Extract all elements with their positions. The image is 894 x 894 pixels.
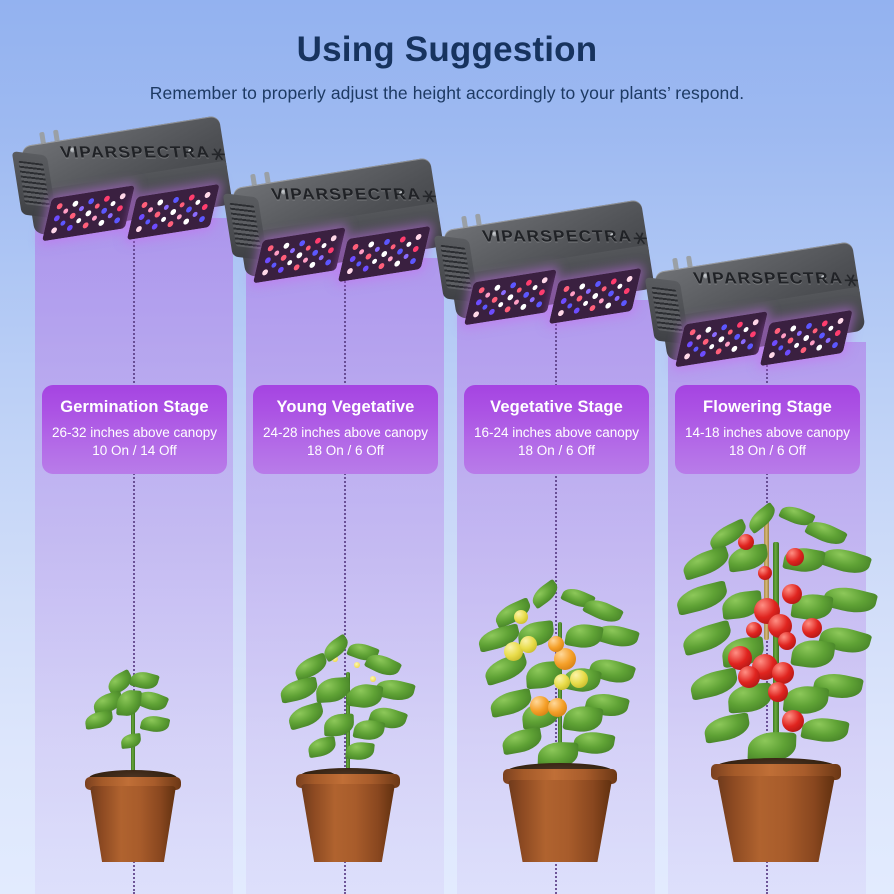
leaf (790, 637, 835, 671)
stage-title: Young Vegetative (259, 398, 432, 417)
page-subtitle: Remember to properly adjust the height a… (0, 83, 894, 104)
vent-grille-icon (440, 245, 472, 292)
leaf (140, 713, 171, 734)
leaf (346, 682, 383, 710)
fruit-tomato (514, 610, 528, 624)
plant-pot (90, 786, 176, 862)
stage-card-vegetative[interactable]: Vegetative Stage 16-24 inches above cano… (464, 385, 649, 474)
stage-cycle: 18 On / 6 Off (681, 442, 854, 460)
flower-blossom-icon (354, 662, 360, 668)
vent-grille-icon (651, 287, 683, 334)
leaf (352, 718, 385, 743)
leaf (307, 736, 338, 759)
brand-logo-icon (422, 190, 437, 203)
stage-height: 26-32 inches above canopy (48, 424, 221, 442)
fruit-tomato (548, 698, 567, 717)
fruit-tomato (554, 674, 570, 690)
infographic-canvas: Using Suggestion Remember to properly ad… (0, 0, 894, 894)
fruit-tomato (548, 636, 564, 652)
led-fixture-flowering[interactable]: VIPARSPECTRA (655, 254, 870, 362)
led-fixture-germination[interactable]: VIPARSPECTRA (22, 128, 237, 236)
fruit-tomato (772, 662, 794, 684)
fruit-tomato (782, 710, 804, 732)
fruit-tomato (778, 632, 796, 650)
plant-foliage (470, 586, 650, 772)
leaf (278, 676, 319, 703)
brand-label: VIPARSPECTRA (270, 185, 422, 204)
leaf (286, 701, 326, 730)
brand-logo-icon (211, 148, 226, 161)
plant-flowering (676, 506, 876, 862)
plant-foliage (676, 506, 876, 768)
brand-label: VIPARSPECTRA (59, 143, 211, 162)
fruit-tomato (782, 584, 802, 604)
stage-card-germination[interactable]: Germination Stage 26-32 inches above can… (42, 385, 227, 474)
brand-logo-icon (633, 232, 648, 245)
brand-label: VIPARSPECTRA (692, 269, 844, 288)
leaf (84, 710, 114, 730)
fruit-tomato (786, 548, 804, 566)
leaf (702, 712, 751, 744)
led-fixture-young-vegetative[interactable]: VIPARSPECTRA (233, 170, 448, 278)
fruit-tomato (738, 534, 754, 550)
leaf (572, 729, 615, 758)
brand-label: VIPARSPECTRA (481, 227, 633, 246)
stage-title: Germination Stage (48, 398, 221, 417)
leaf (129, 669, 160, 693)
stage-height: 16-24 inches above canopy (470, 424, 643, 442)
leaf (680, 545, 732, 581)
page-title: Using Suggestion (0, 30, 894, 70)
fruit-tomato (570, 670, 588, 688)
fruit-tomato (746, 622, 762, 638)
stage-card-flowering[interactable]: Flowering Stage 14-18 inches above canop… (675, 385, 860, 474)
brand-logo-icon (844, 274, 859, 287)
vent-grille-icon (18, 161, 50, 208)
leaf (564, 621, 604, 651)
stage-card-young-vegetative[interactable]: Young Vegetative 24-28 inches above cano… (253, 385, 438, 474)
stage-title: Vegetative Stage (470, 398, 643, 417)
stage-height: 24-28 inches above canopy (259, 424, 432, 442)
plant-seedling (68, 664, 198, 862)
stage-cycle: 10 On / 14 Off (48, 442, 221, 460)
stage-cycle: 18 On / 6 Off (470, 442, 643, 460)
leaf (500, 727, 543, 756)
led-fixture-vegetative[interactable]: VIPARSPECTRA (444, 212, 659, 320)
fruit-tomato (768, 682, 788, 702)
stage-title: Flowering Stage (681, 398, 854, 417)
stage-cycle: 18 On / 6 Off (259, 442, 432, 460)
fruit-tomato (802, 618, 822, 638)
fruit-tomato (758, 566, 772, 580)
plant-pot (301, 784, 395, 862)
plant-pot (717, 776, 835, 862)
flower-blossom-icon (370, 676, 376, 682)
plant-foliage (270, 636, 426, 776)
leaf (800, 714, 849, 746)
plant-vegetative (470, 592, 650, 862)
stage-height: 14-18 inches above canopy (681, 424, 854, 442)
fruit-tomato (530, 696, 550, 716)
fruit-tomato (738, 666, 760, 688)
vent-grille-icon (229, 203, 261, 250)
plant-young-vegetative (268, 640, 428, 862)
leaf (744, 502, 779, 534)
plant-foliage (73, 668, 193, 778)
fruit-tomato (520, 636, 537, 653)
leaf (562, 703, 603, 734)
leaf (820, 543, 872, 579)
leaf (345, 741, 375, 762)
header: Using Suggestion Remember to properly ad… (0, 0, 894, 104)
leaf (120, 733, 141, 749)
plant-pot (508, 780, 612, 862)
